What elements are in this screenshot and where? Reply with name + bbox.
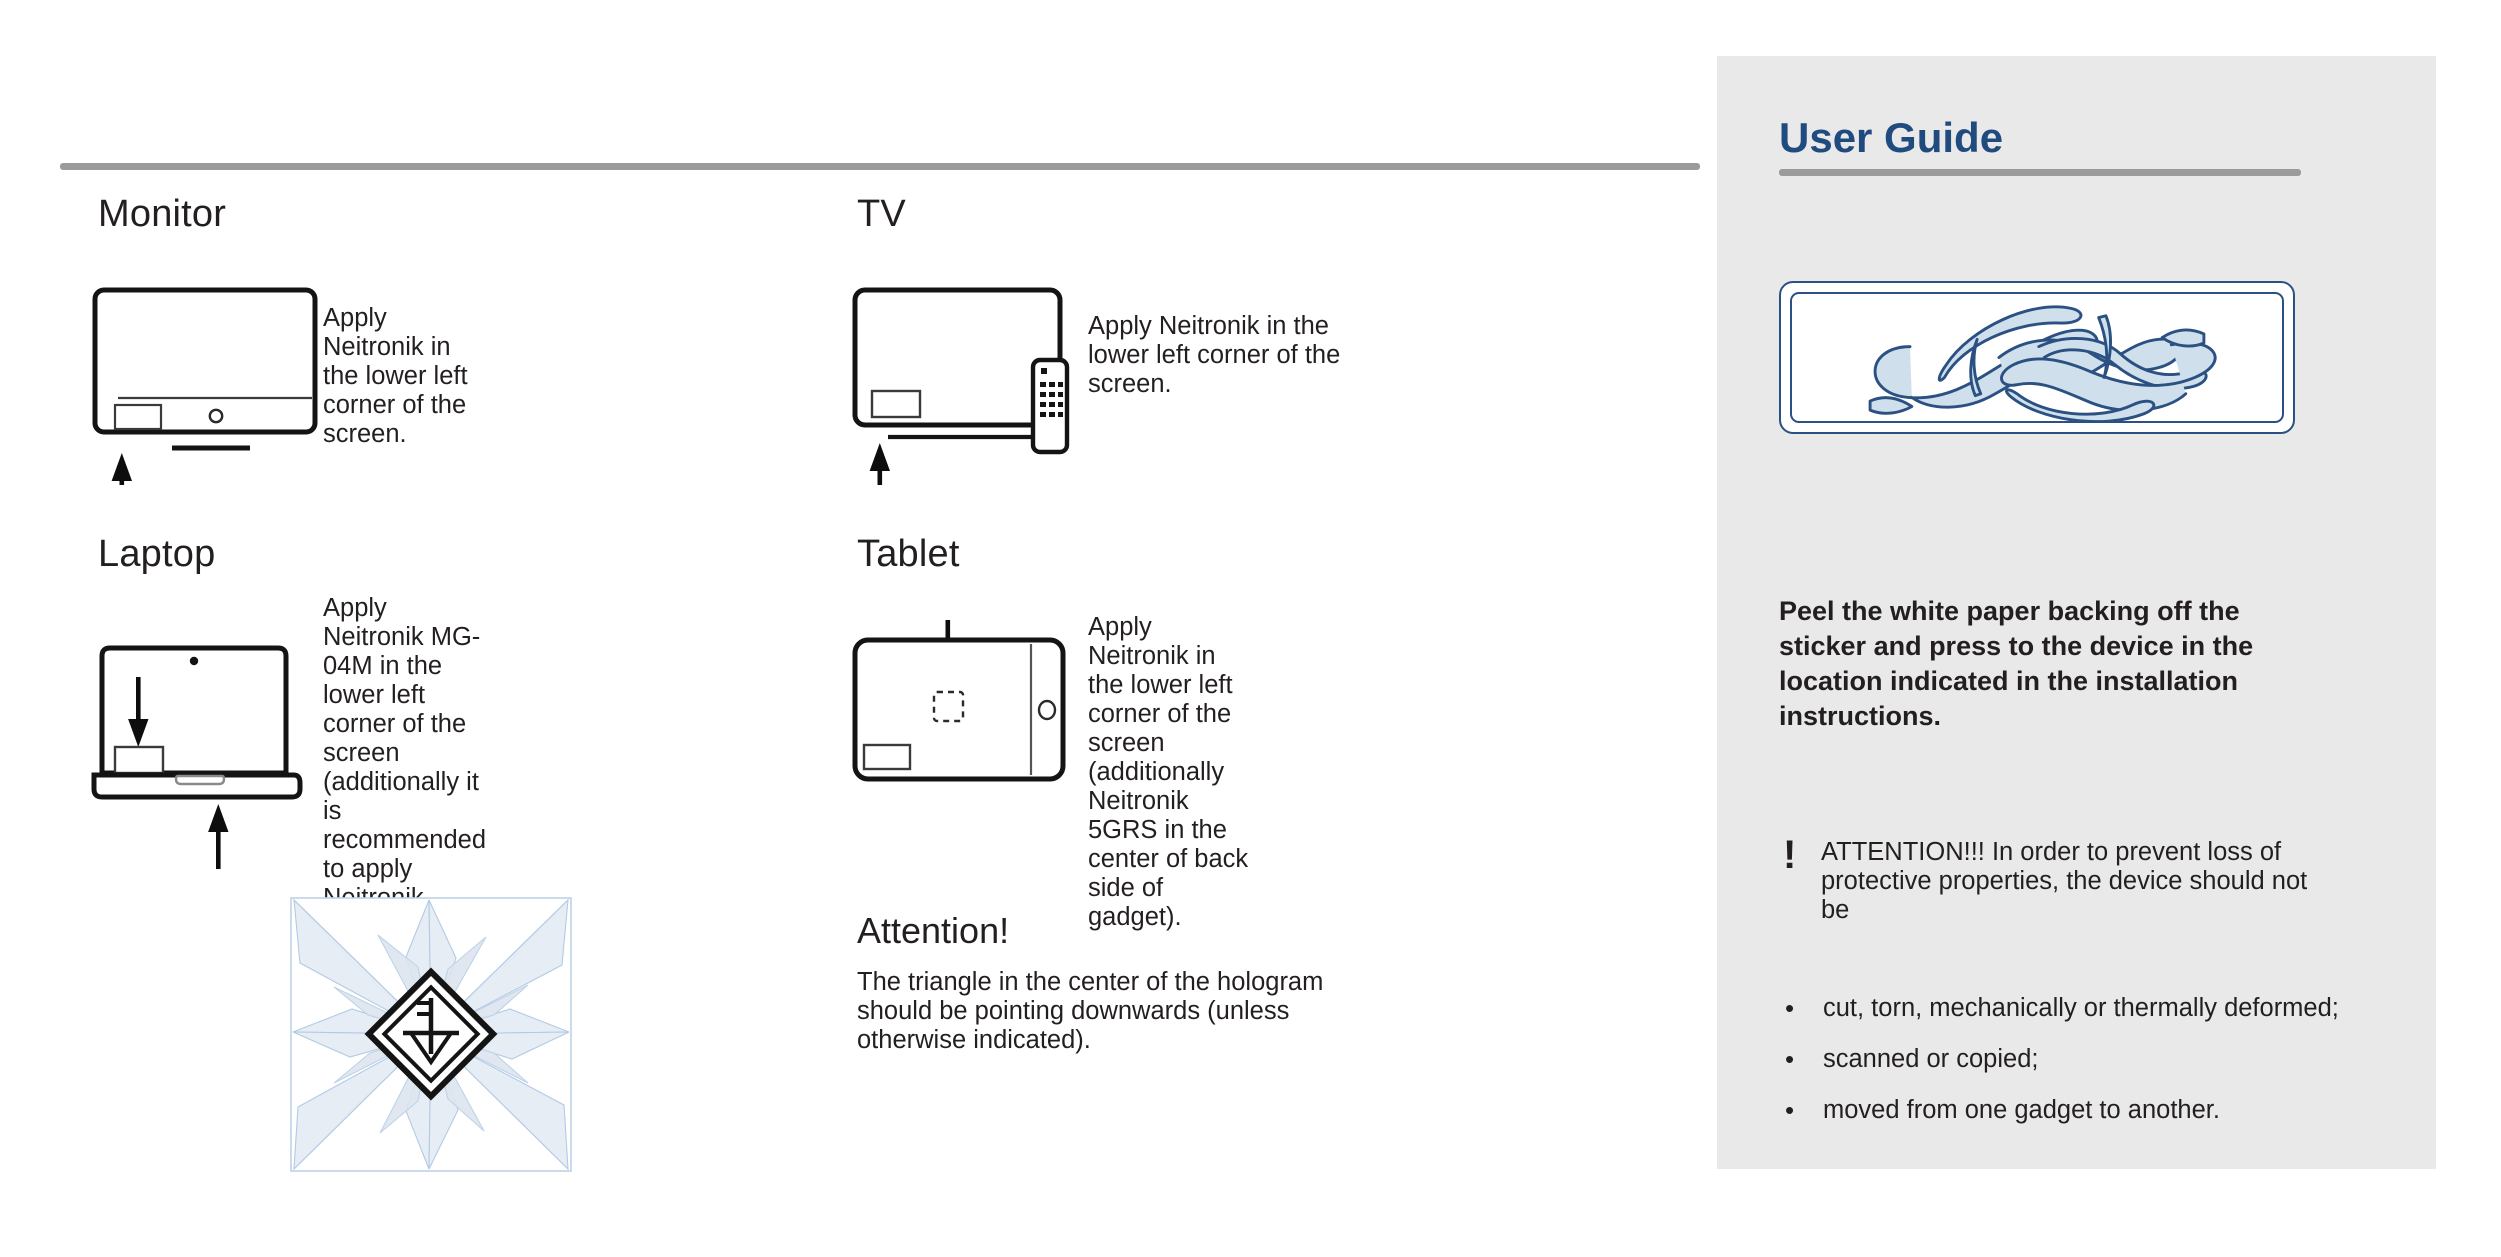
- sticker-preview-frame: [1779, 281, 2295, 434]
- list-item: • moved from one gadget to another.: [1779, 1096, 2349, 1125]
- section-title-laptop: Laptop: [98, 533, 215, 576]
- panel-attention-row: ! ATTENTION!!! In order to prevent loss …: [1779, 838, 2339, 925]
- hologram-star-seal-icon: [290, 897, 572, 1172]
- section-title-monitor: Monitor: [98, 193, 226, 236]
- user-guide-panel: User Guide: [1717, 56, 2436, 1169]
- monitor-illustration: [90, 285, 350, 485]
- section-title-tablet: Tablet: [857, 533, 960, 576]
- attention-text: The triangle in the center of the hologr…: [857, 968, 1377, 1055]
- panel-instruction: Peel the white paper backing off the sti…: [1779, 594, 2319, 734]
- bullet-text: cut, torn, mechanically or thermally def…: [1823, 994, 2349, 1023]
- caption-tablet: Apply Neitronik in the lower left corner…: [1088, 613, 1253, 932]
- attention-heading: Attention!: [857, 910, 1009, 952]
- list-item: • cut, torn, mechanically or thermally d…: [1779, 994, 2349, 1023]
- bullet-text: moved from one gadget to another.: [1823, 1096, 2349, 1125]
- laptop-illustration: [88, 635, 358, 875]
- panel-attention-text: ATTENTION!!! In order to prevent loss of…: [1821, 838, 2339, 925]
- caption-tv: Apply Neitronik in the lower left corner…: [1088, 312, 1358, 399]
- sticker-inner-frame: [1790, 292, 2284, 423]
- panel-bullet-list: • cut, torn, mechanically or thermally d…: [1779, 994, 2349, 1147]
- celtic-knot-sticker-icon: [1792, 294, 2282, 421]
- header-divider: [60, 163, 1700, 170]
- section-title-tv: TV: [857, 193, 906, 236]
- panel-title: User Guide: [1779, 114, 2003, 162]
- bullet-dot-icon: •: [1779, 1045, 1823, 1074]
- panel-title-divider: [1779, 169, 2301, 176]
- bullet-text: scanned or copied;: [1823, 1045, 2349, 1074]
- bullet-dot-icon: •: [1779, 1096, 1823, 1125]
- caption-monitor: Apply Neitronik in the lower left corner…: [323, 304, 483, 449]
- bullet-dot-icon: •: [1779, 994, 1823, 1023]
- exclamation-icon: !: [1779, 838, 1821, 925]
- list-item: • scanned or copied;: [1779, 1045, 2349, 1074]
- tablet-illustration: [850, 600, 1090, 795]
